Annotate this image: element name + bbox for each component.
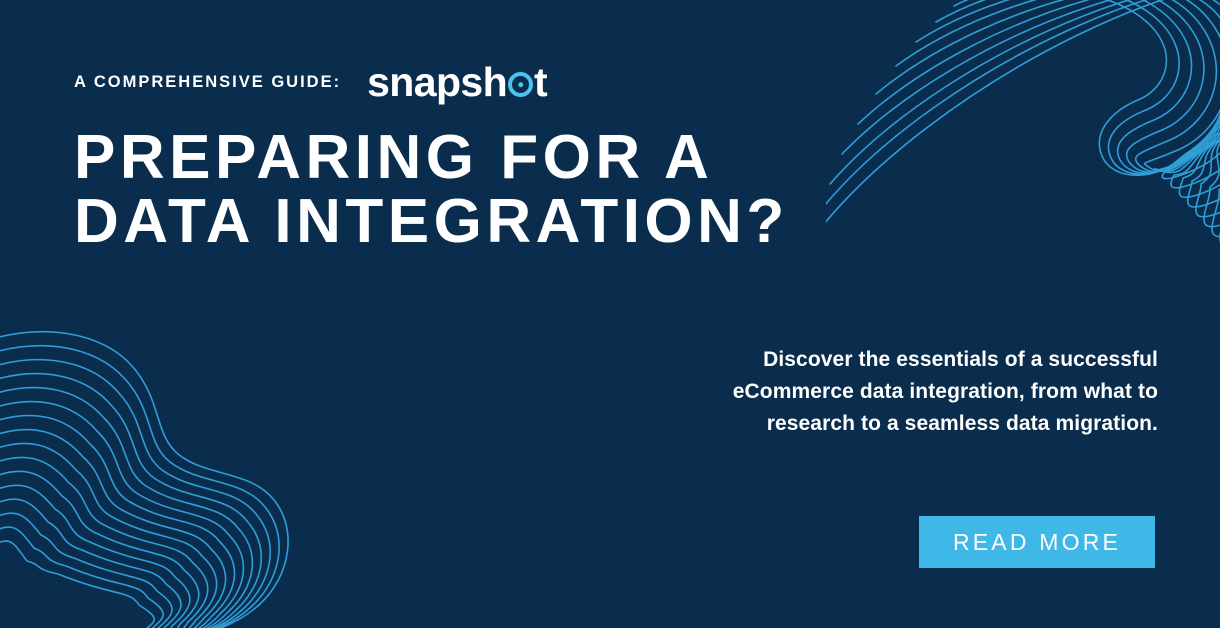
snapshot-logo[interactable]: snapsh t: [367, 62, 547, 103]
description-line-3: research to a seamless data migration.: [598, 408, 1158, 440]
page-title: PREPARING FOR A DATA INTEGRATION?: [74, 126, 789, 254]
eyebrow-label: A COMPREHENSIVE GUIDE:: [74, 73, 341, 92]
description-line-2: eCommerce data integration, from what to: [598, 376, 1158, 408]
headline-line-1: PREPARING FOR A: [74, 126, 789, 190]
headline-line-2: DATA INTEGRATION?: [74, 190, 789, 254]
target-ring-icon: [508, 72, 533, 97]
read-more-button[interactable]: READ MORE: [919, 516, 1155, 568]
logo-text-trailing: t: [534, 62, 547, 103]
logo-text-leading: snapsh: [367, 62, 507, 103]
eyebrow-row: A COMPREHENSIVE GUIDE: snapsh t: [74, 62, 547, 103]
description-text: Discover the essentials of a successful …: [598, 344, 1158, 440]
promo-banner: A COMPREHENSIVE GUIDE: snapsh t PREPARIN…: [0, 0, 1220, 628]
topographic-contour-decoration-top-right: [826, 0, 1220, 322]
topographic-contour-decoration-bottom-left: [0, 304, 392, 628]
description-line-1: Discover the essentials of a successful: [598, 344, 1158, 376]
